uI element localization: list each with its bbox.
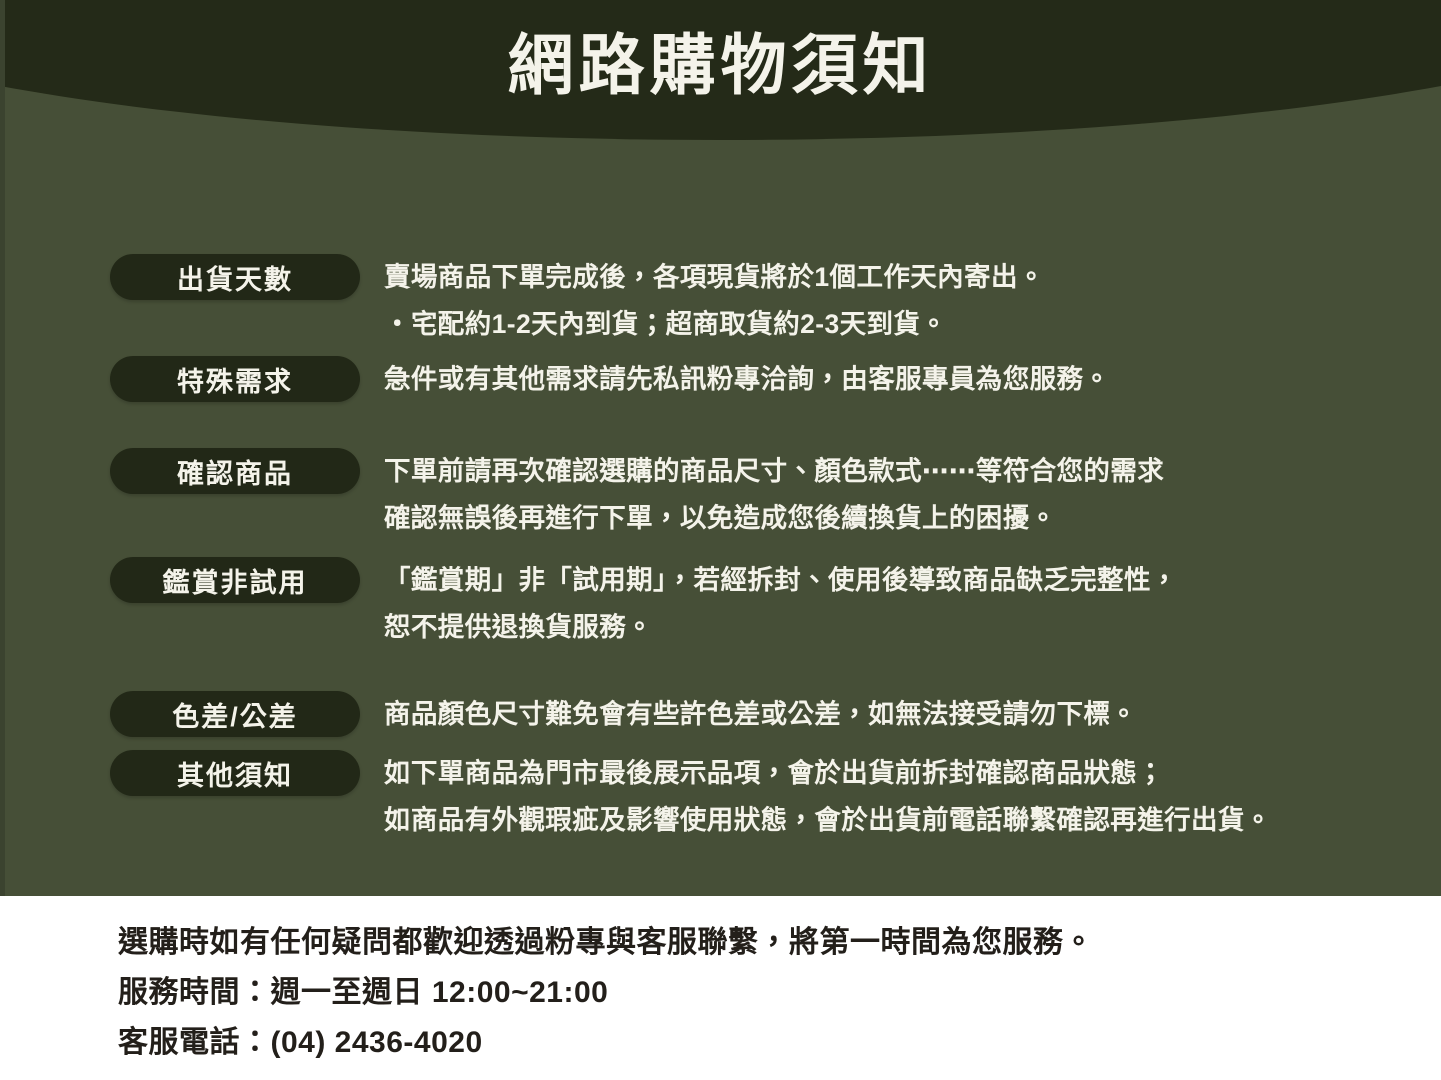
label-pill-special-request: 特殊需求 <box>110 356 360 402</box>
label-pill-other-notes: 其他須知 <box>110 750 360 796</box>
footer-line-service-hours: 服務時間：週一至週日 12:00~21:00 <box>118 968 1441 1018</box>
notice-row-confirm-product: 確認商品 下單前請再次確認選購的商品尺寸、顏色款式⋯⋯等符合您的需求 確認無誤後… <box>110 448 1164 542</box>
notice-text-other-notes: 如下單商品為門市最後展示品項，會於出貨前拆封確認商品狀態； 如商品有外觀瑕疵及影… <box>384 750 1272 844</box>
notice-line: 商品顏色尺寸難免會有些許色差或公差，如無法接受請勿下標。 <box>384 691 1137 738</box>
notice-line: 恕不提供退換貨服務。 <box>384 604 1178 651</box>
label-pill-inspection-not-trial: 鑑賞非試用 <box>110 557 360 603</box>
notice-panel: 網路購物須知 出貨天數 賣場商品下單完成後，各項現貨將於1個工作天內寄出。 ・宅… <box>0 0 1441 896</box>
notice-rows: 出貨天數 賣場商品下單完成後，各項現貨將於1個工作天內寄出。 ・宅配約1-2天內… <box>0 0 1441 896</box>
notice-row-inspection-not-trial: 鑑賞非試用 「鑑賞期」非「試用期」，若經拆封、使用後導致商品缺乏完整性， 恕不提… <box>110 557 1178 651</box>
label-pill-color-tolerance: 色差/公差 <box>110 691 360 737</box>
notice-text-shipping: 賣場商品下單完成後，各項現貨將於1個工作天內寄出。 ・宅配約1-2天內到貨；超商… <box>384 254 1045 348</box>
contact-footer: 選購時如有任何疑問都歡迎透過粉專與客服聯繫，將第一時間為您服務。 服務時間：週一… <box>0 896 1441 1080</box>
notice-line: ・宅配約1-2天內到貨；超商取貨約2-3天到貨。 <box>384 301 1045 348</box>
notice-line: 如下單商品為門市最後展示品項，會於出貨前拆封確認商品狀態； <box>384 750 1272 797</box>
left-edge-strip <box>0 0 5 896</box>
notice-line: 確認無誤後再進行下單，以免造成您後續換貨上的困擾。 <box>384 495 1164 542</box>
notice-text-color-tolerance: 商品顏色尺寸難免會有些許色差或公差，如無法接受請勿下標。 <box>384 691 1137 738</box>
notice-text-confirm-product: 下單前請再次確認選購的商品尺寸、顏色款式⋯⋯等符合您的需求 確認無誤後再進行下單… <box>384 448 1164 542</box>
notice-line: 急件或有其他需求請先私訊粉專洽詢，由客服專員為您服務。 <box>384 356 1110 403</box>
notice-text-inspection-not-trial: 「鑑賞期」非「試用期」，若經拆封、使用後導致商品缺乏完整性， 恕不提供退換貨服務… <box>384 557 1178 651</box>
notice-row-shipping: 出貨天數 賣場商品下單完成後，各項現貨將於1個工作天內寄出。 ・宅配約1-2天內… <box>110 254 1045 348</box>
notice-line: 賣場商品下單完成後，各項現貨將於1個工作天內寄出。 <box>384 254 1045 301</box>
notice-line: 「鑑賞期」非「試用期」，若經拆封、使用後導致商品缺乏完整性， <box>384 557 1178 604</box>
footer-line-contact-invite: 選購時如有任何疑問都歡迎透過粉專與客服聯繫，將第一時間為您服務。 <box>118 918 1441 968</box>
notice-text-special-request: 急件或有其他需求請先私訊粉專洽詢，由客服專員為您服務。 <box>384 356 1110 403</box>
page-title: 網路購物須知 <box>0 28 1441 104</box>
notice-row-other-notes: 其他須知 如下單商品為門市最後展示品項，會於出貨前拆封確認商品狀態； 如商品有外… <box>110 750 1272 844</box>
notice-row-special-request: 特殊需求 急件或有其他需求請先私訊粉專洽詢，由客服專員為您服務。 <box>110 356 1110 403</box>
footer-line-service-phone: 客服電話：(04) 2436-4020 <box>118 1018 1441 1068</box>
notice-line: 如商品有外觀瑕疵及影響使用狀態，會於出貨前電話聯繫確認再進行出貨。 <box>384 797 1272 844</box>
label-pill-confirm-product: 確認商品 <box>110 448 360 494</box>
notice-page: 網路購物須知 出貨天數 賣場商品下單完成後，各項現貨將於1個工作天內寄出。 ・宅… <box>0 0 1441 1080</box>
notice-row-color-tolerance: 色差/公差 商品顏色尺寸難免會有些許色差或公差，如無法接受請勿下標。 <box>110 691 1137 738</box>
label-pill-shipping: 出貨天數 <box>110 254 360 300</box>
notice-line: 下單前請再次確認選購的商品尺寸、顏色款式⋯⋯等符合您的需求 <box>384 448 1164 495</box>
